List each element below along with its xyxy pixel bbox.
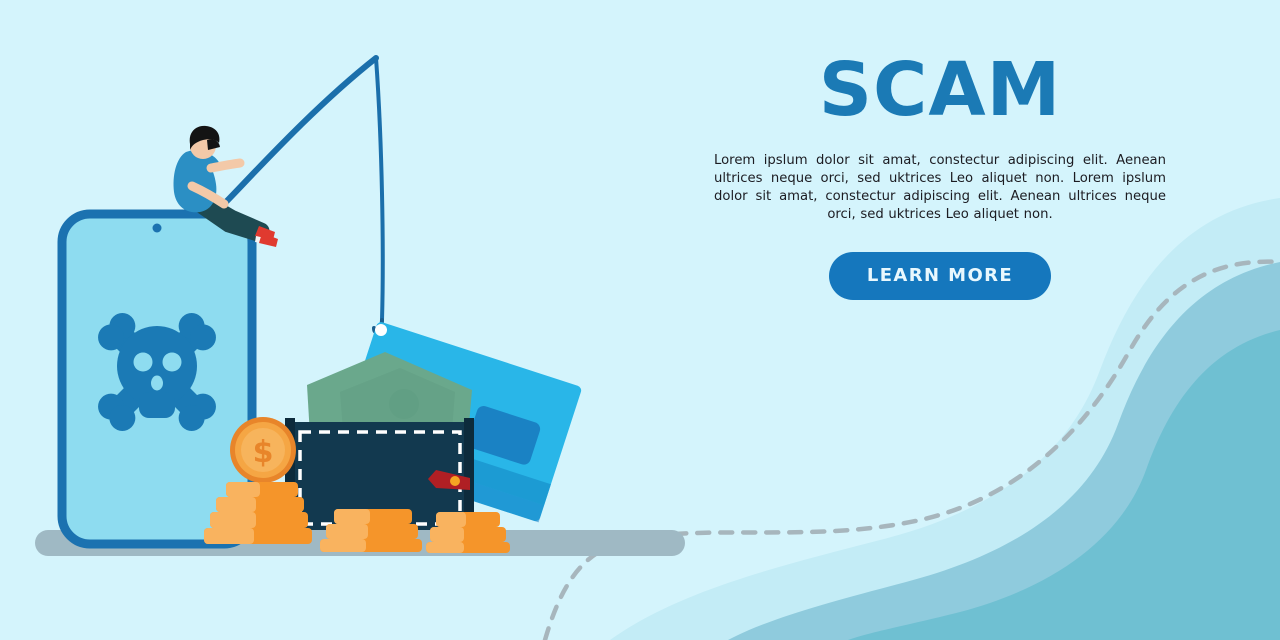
card-hook-hole [375, 324, 387, 336]
page-title: SCAM [700, 52, 1180, 130]
standing-dollar-coin: $ [230, 417, 296, 483]
content-column: SCAM Lorem ipslum dolor sit amat, conste… [700, 52, 1180, 300]
banner-stage: $ [0, 0, 1280, 640]
scam-illustration: $ [0, 0, 720, 640]
learn-more-button[interactable]: LEARN MORE [829, 252, 1051, 300]
coin-stack-right [426, 512, 510, 553]
rod-shaft [222, 58, 376, 206]
fishing-line [376, 58, 383, 320]
shoes [255, 226, 278, 247]
arm-upper [211, 163, 240, 168]
banknote-seal [389, 389, 419, 419]
description-paragraph: Lorem ipslum dolor sit amat, constectur … [714, 152, 1166, 224]
phone-camera-dot [153, 224, 162, 233]
cta-wrapper: LEARN MORE [700, 252, 1180, 300]
svg-text:$: $ [253, 435, 274, 470]
coin-stack-middle [320, 509, 422, 552]
smartphone [62, 214, 252, 544]
